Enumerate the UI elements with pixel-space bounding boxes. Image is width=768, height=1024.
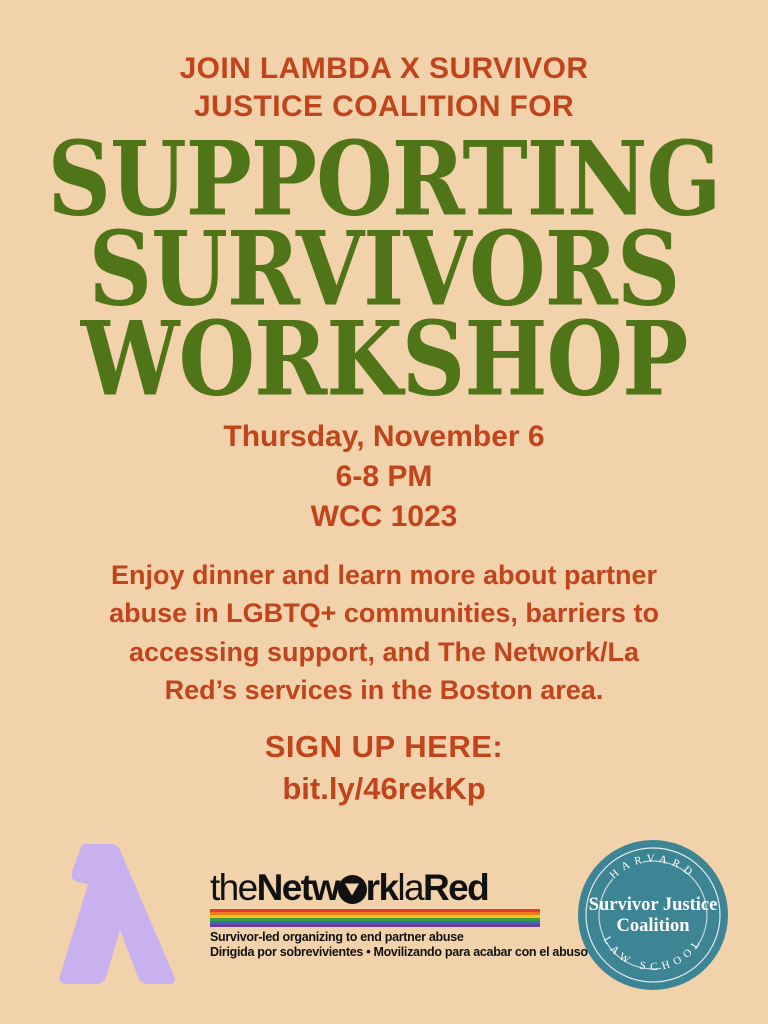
logo-tagline-english: Survivor-led organizing to end partner a… (210, 930, 540, 945)
wordmark-la: la (397, 867, 423, 908)
event-time: 6-8 PM (0, 457, 768, 497)
network-la-red-wordmark: theNetwrklaRed (210, 868, 540, 908)
event-location: WCC 1023 (0, 497, 768, 537)
wordmark-the: the (210, 867, 257, 908)
event-details: Thursday, November 6 6-8 PM WCC 1023 (0, 417, 768, 537)
wordmark-network-post: rk (366, 867, 398, 908)
wordmark-red: Red (423, 867, 488, 908)
title-line-workshop: WORKSHOP (0, 312, 768, 407)
page-title: SUPPORTING SURVIVORS WORKSHOP (0, 132, 768, 401)
signup-block: SIGN UP HERE: bit.ly/46rekKp (0, 729, 768, 807)
logo-tagline-spanish: Dirigida por sobrevivientes • Movilizand… (210, 945, 540, 960)
poster-canvas: JOIN LAMBDA X SURVIVOR JUSTICE COALITION… (0, 0, 768, 1024)
event-date: Thursday, November 6 (0, 417, 768, 457)
signup-label: SIGN UP HERE: (0, 729, 768, 765)
kicker-line-1: JOIN LAMBDA X SURVIVOR (60, 50, 708, 88)
event-description: Enjoy dinner and learn more about partne… (96, 556, 672, 709)
lambda-icon (58, 838, 178, 990)
wordmark-network-pre: Netw (257, 867, 339, 908)
triangle-in-circle-icon (338, 875, 367, 904)
kicker-heading: JOIN LAMBDA X SURVIVOR JUSTICE COALITION… (0, 50, 768, 127)
signup-url-link[interactable]: bit.ly/46rekKp (0, 771, 768, 807)
seal-center-line-1: Survivor Justice (589, 895, 718, 915)
seal-center-line-2: Coalition (617, 916, 691, 936)
rainbow-stripe-icon (210, 909, 540, 927)
survivor-justice-coalition-seal: HARVARD LAW SCHOOL Survivor Justice Coal… (578, 840, 728, 990)
network-la-red-logo: theNetwrklaRed Survivor-led organizing t… (210, 868, 540, 961)
